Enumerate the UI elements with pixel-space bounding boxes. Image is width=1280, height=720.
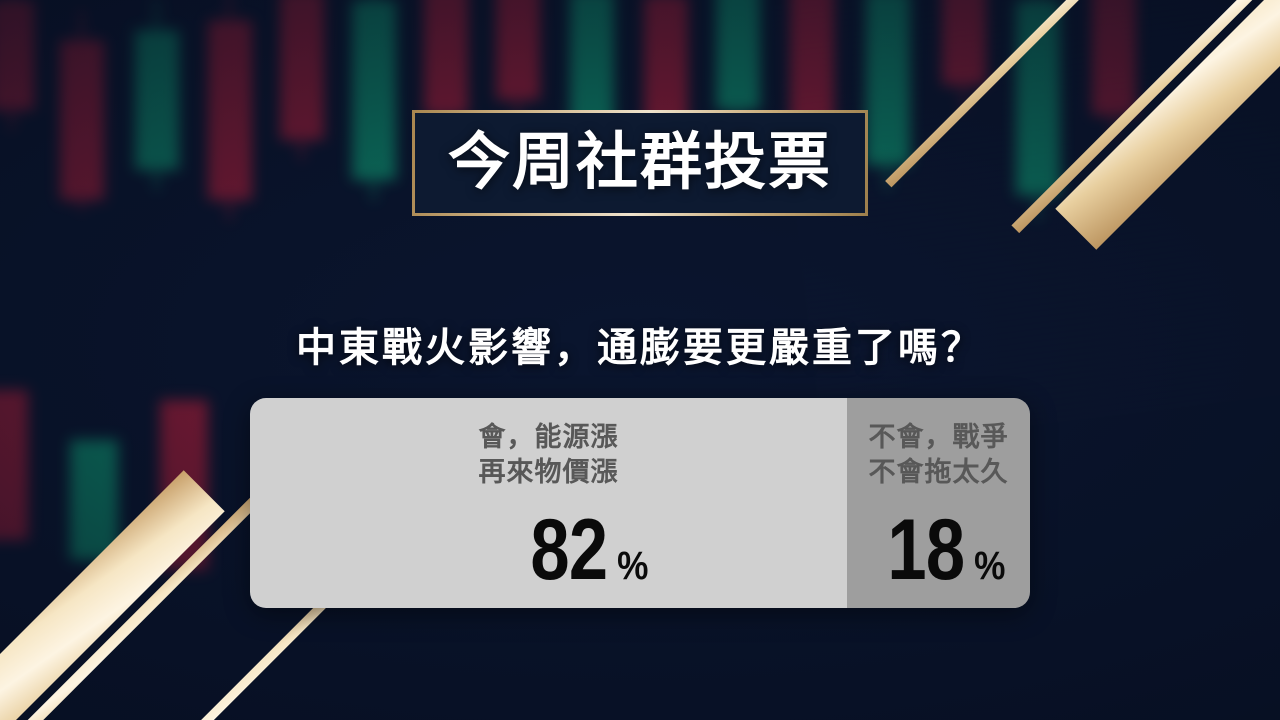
- title-box: 今周社群投票: [412, 110, 868, 216]
- poll-option-b-number: 18: [887, 511, 964, 590]
- poll-option-a-label: 會，能源漲 再來物價漲: [479, 420, 619, 489]
- poll-option-a-value: 82 %: [522, 511, 651, 590]
- poll-option-b-label: 不會，戰爭 不會拖太久: [869, 420, 1009, 489]
- poll-option-a-number: 82: [530, 511, 607, 590]
- poll-result-bar: 會，能源漲 再來物價漲 82 % 不會，戰爭 不會拖太久 18 %: [250, 398, 1030, 608]
- page-title: 今周社群投票: [448, 132, 832, 194]
- poll-question: 中東戰火影響，通膨要更嚴重了嗎？: [0, 315, 1280, 373]
- poll-option-b-value: 18 %: [879, 511, 1008, 590]
- poll-option-a-percent-sign: %: [618, 546, 649, 586]
- poll-option-b[interactable]: 不會，戰爭 不會拖太久 18 %: [847, 398, 1030, 608]
- poll-graphic-slide: 今周社群投票 中東戰火影響，通膨要更嚴重了嗎？ 會，能源漲 再來物價漲 82 %…: [0, 0, 1280, 720]
- poll-option-b-percent-sign: %: [975, 546, 1006, 586]
- poll-option-a[interactable]: 會，能源漲 再來物價漲 82 %: [250, 398, 847, 608]
